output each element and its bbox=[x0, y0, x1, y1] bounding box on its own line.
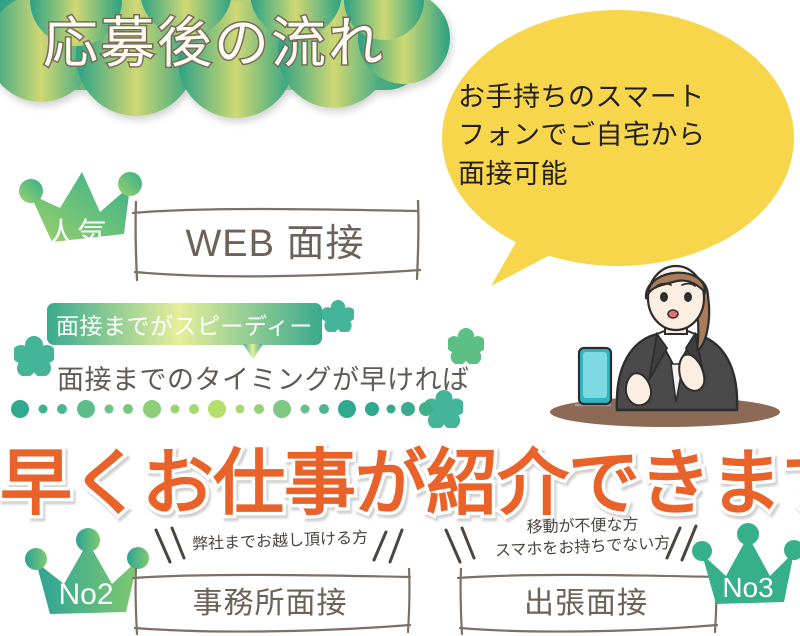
decorative-dot-row bbox=[10, 398, 480, 422]
web-interview-label: WEB 面接 bbox=[130, 200, 420, 278]
slash-marks-left-close bbox=[370, 524, 410, 566]
web-interview-box: WEB 面接 bbox=[130, 200, 420, 278]
crown-badge-no3: No3 bbox=[692, 518, 800, 610]
flower-icon-left bbox=[14, 336, 54, 376]
speedy-speech-bubble: 面接までがスピーディー bbox=[47, 303, 322, 355]
woman-web-interview-illustration bbox=[545, 252, 795, 427]
bubble-line-1: お手持ちのスマート bbox=[458, 78, 776, 116]
flower-icon-bubble-right bbox=[322, 300, 354, 332]
header-cloud-banner: 応募者の皆様へ 応募後の流れ bbox=[0, 0, 456, 150]
smartphone-bubble-text: お手持ちのスマート フォンでご自宅から 面接可能 bbox=[458, 78, 776, 193]
office-interview-box: 事務所面接 bbox=[130, 568, 410, 632]
bubble-line-2: フォンでご自宅から bbox=[458, 116, 776, 154]
flower-icon-right bbox=[448, 328, 484, 364]
office-interview-label: 事務所面接 bbox=[130, 568, 410, 632]
crown-badge-popular: 人気 bbox=[12, 164, 142, 269]
infographic-canvas: 応募者の皆様へ 応募後の流れ お手持ちのスマート フォンでご自宅から 面接可能 bbox=[0, 0, 800, 636]
speedy-bubble-text: 面接までがスピーディー bbox=[47, 303, 322, 345]
visit-interview-label: 出張面接 bbox=[455, 568, 717, 632]
speed-subtext: 面接までのタイミングが早ければ bbox=[57, 358, 477, 397]
visit-interview-box: 出張面接 bbox=[455, 568, 717, 632]
bubble-line-3: 面接可能 bbox=[458, 155, 776, 193]
